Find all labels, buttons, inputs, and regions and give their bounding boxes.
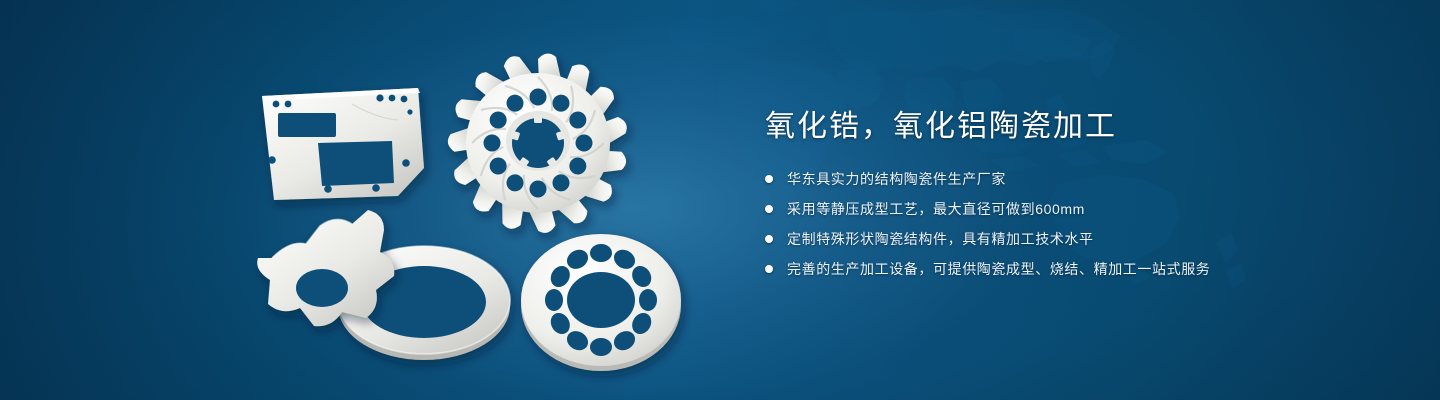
bullet-text: 完善的生产加工设备，可提供陶瓷成型、烧结、精加工一站式服务 bbox=[787, 258, 1210, 280]
ceramic-products-photo bbox=[0, 0, 720, 400]
bullet-dot-icon bbox=[765, 265, 773, 273]
list-item: 采用等静压成型工艺，最大直径可做到600mm bbox=[765, 198, 1385, 220]
bullet-text: 采用等静压成型工艺，最大直径可做到600mm bbox=[787, 198, 1085, 220]
bullet-text: 定制特殊形状陶瓷结构件，具有精加工技术水平 bbox=[787, 228, 1094, 250]
bullet-dot-icon bbox=[765, 205, 773, 213]
ceramic-mounting-plate bbox=[262, 88, 424, 200]
banner-feature-list: 华东具实力的结构陶瓷件生产厂家 采用等静压成型工艺，最大直径可做到600mm 定… bbox=[765, 168, 1385, 280]
banner-headline: 氧化锆，氧化铝陶瓷加工 bbox=[765, 108, 1385, 146]
bullet-text: 华东具实力的结构陶瓷件生产厂家 bbox=[787, 168, 1006, 190]
bullet-dot-icon bbox=[765, 235, 773, 243]
promo-banner: 氧化锆，氧化铝陶瓷加工 华东具实力的结构陶瓷件生产厂家 采用等静压成型工艺，最大… bbox=[0, 0, 1440, 400]
banner-copy: 氧化锆，氧化铝陶瓷加工 华东具实力的结构陶瓷件生产厂家 采用等静压成型工艺，最大… bbox=[765, 108, 1385, 280]
ceramic-impeller-disc bbox=[447, 52, 631, 236]
list-item: 华东具实力的结构陶瓷件生产厂家 bbox=[765, 168, 1385, 190]
list-item: 定制特殊形状陶瓷结构件，具有精加工技术水平 bbox=[765, 228, 1385, 250]
ceramic-perforated-disc bbox=[521, 234, 681, 371]
ceramic-cross-plate bbox=[257, 210, 394, 326]
bullet-dot-icon bbox=[765, 175, 773, 183]
list-item: 完善的生产加工设备，可提供陶瓷成型、烧结、精加工一站式服务 bbox=[765, 258, 1385, 280]
